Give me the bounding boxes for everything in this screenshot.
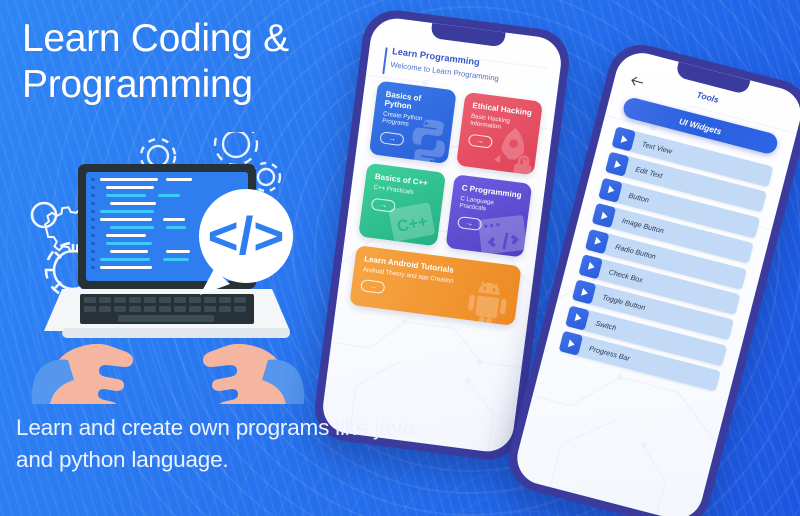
- list-item-label: Progress Bar: [588, 344, 631, 363]
- back-arrow-icon[interactable]: [629, 75, 644, 89]
- header-accent-bar: [382, 47, 387, 74]
- list-item-label: Text View: [641, 139, 673, 155]
- play-icon: [578, 254, 603, 279]
- card-arrow-button[interactable]: →: [457, 216, 482, 231]
- cpp-logo-icon: C++: [383, 190, 445, 246]
- play-icon: [611, 126, 636, 151]
- play-icon: [598, 177, 623, 202]
- code-symbol: </>: [208, 207, 285, 266]
- app-store-feature-graphic: Learn Coding & Programming: [0, 0, 800, 516]
- play-icon: [565, 305, 590, 330]
- card-arrow-button[interactable]: →: [467, 134, 492, 149]
- card-arrow-button[interactable]: →: [360, 279, 385, 294]
- list-item-label: Switch: [595, 318, 618, 332]
- code-speech-bubble-icon: </>: [199, 189, 293, 295]
- list-item-label: Toggle Button: [601, 293, 646, 313]
- phone1-notch: [430, 23, 505, 47]
- list-item-label: Check Box: [608, 267, 644, 284]
- page-caption: Learn and create own programs like java …: [16, 412, 416, 476]
- play-icon: [605, 152, 630, 177]
- play-icon: [585, 229, 610, 254]
- play-icon: [572, 280, 597, 305]
- play-icon: [592, 203, 617, 228]
- list-item-label: Button: [628, 190, 650, 204]
- course-card-ethical-hacking[interactable]: Ethical Hacking Basic Hacking Informatio…: [456, 92, 543, 175]
- phone1-header: Learn Programming Welcome to Learn Progr…: [383, 45, 501, 82]
- course-card-c-programming[interactable]: C Programming C Language Practicals →: [445, 174, 532, 257]
- list-item-label: Radio Button: [615, 242, 657, 261]
- list-item-label: Edit Text: [634, 165, 663, 181]
- course-card-cpp[interactable]: Basics of C++ C++ Practicals → C++: [358, 163, 445, 246]
- laptop-coding-illustration: </>: [18, 132, 328, 404]
- course-card-python[interactable]: Basics of Python Create Python Programs …: [369, 81, 456, 164]
- list-item-label: Image Button: [621, 216, 665, 235]
- tools-list: Text View Edit Text Button Image Button …: [559, 126, 774, 391]
- course-card-grid: Basics of Python Create Python Programs …: [349, 81, 543, 326]
- svg-text:C++: C++: [395, 212, 429, 235]
- page-title: Learn Coding & Programming: [22, 16, 362, 107]
- hands-typing: [32, 344, 304, 404]
- course-card-android[interactable]: Learn Android Tutorials Android Theory a…: [349, 245, 521, 326]
- play-icon: [559, 331, 584, 356]
- card-arrow-button[interactable]: →: [371, 198, 396, 213]
- card-arrow-button[interactable]: →: [379, 131, 404, 146]
